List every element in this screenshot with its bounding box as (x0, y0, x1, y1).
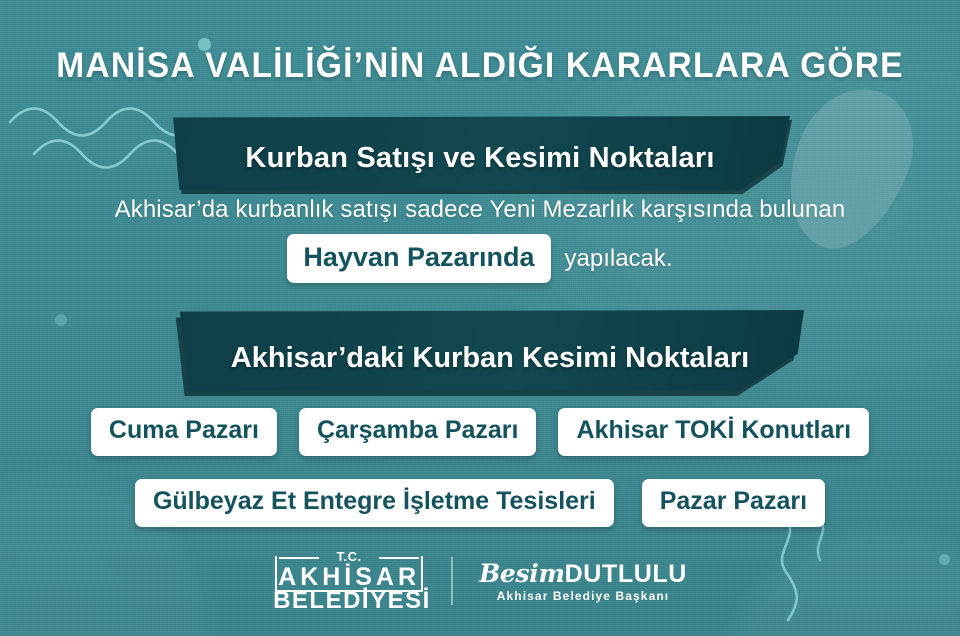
sales-body-line-2: Hayvan Pazarında yapılacak. (0, 234, 960, 283)
banner-kurban-kesimi: Akhisar’daki Kurban Kesimi Noktaları (176, 310, 804, 390)
mayor-logo: BesimDUTLULU Akhisar Belediye Başkanı (479, 560, 687, 603)
sales-body-tail: yapılacak. (565, 245, 673, 273)
banner-kurban-satisi: Kurban Satışı ve Kesimi Noktaları (170, 116, 790, 190)
page-title: MANİSA VALİLİĞİ’NİN ALDIĞI KARARLARA GÖR… (19, 46, 941, 86)
location-chip: Pazar Pazarı (642, 479, 825, 527)
location-chip: Akhisar TOKİ Konutları (558, 408, 869, 456)
location-row-2: Gülbeyaz Et Entegre İşletme Tesisleri Pa… (0, 479, 960, 527)
logo-belediyesi-label: BELEDİYESİ (273, 588, 425, 613)
mayor-role: Akhisar Belediye Başkanı (479, 589, 687, 603)
mayor-first-name: Besim (479, 559, 565, 588)
logo-tc-label: T.C. (273, 550, 425, 564)
location-chip: Gülbeyaz Et Entegre İşletme Tesisleri (135, 479, 614, 527)
sales-body-line-1: Akhisar’da kurbanlık satışı sadece Yeni … (0, 196, 960, 224)
akhisar-belediyesi-logo: T.C. AKHİSAR BELEDİYESİ (273, 550, 425, 612)
footer: T.C. AKHİSAR BELEDİYESİ BesimDUTLULU Akh… (0, 545, 960, 617)
location-row-1: Cuma Pazarı Çarşamba Pazarı Akhisar TOKİ… (0, 408, 960, 456)
location-chip: Cuma Pazarı (91, 408, 277, 456)
decorative-dot-left (55, 314, 67, 326)
location-chip: Çarşamba Pazarı (299, 408, 537, 456)
footer-divider (451, 557, 453, 605)
banner-label-sales: Kurban Satışı ve Kesimi Noktaları (170, 121, 790, 195)
poster-canvas: MANİSA VALİLİĞİ’NİN ALDIĞI KARARLARA GÖR… (0, 0, 960, 636)
banner-label-slaughter: Akhisar’daki Kurban Kesimi Noktaları (176, 318, 804, 398)
mayor-name: BesimDUTLULU (479, 560, 687, 588)
highlight-pill-hayvan-pazarinda: Hayvan Pazarında (287, 234, 550, 283)
mayor-last-name: DUTLULU (565, 560, 687, 588)
